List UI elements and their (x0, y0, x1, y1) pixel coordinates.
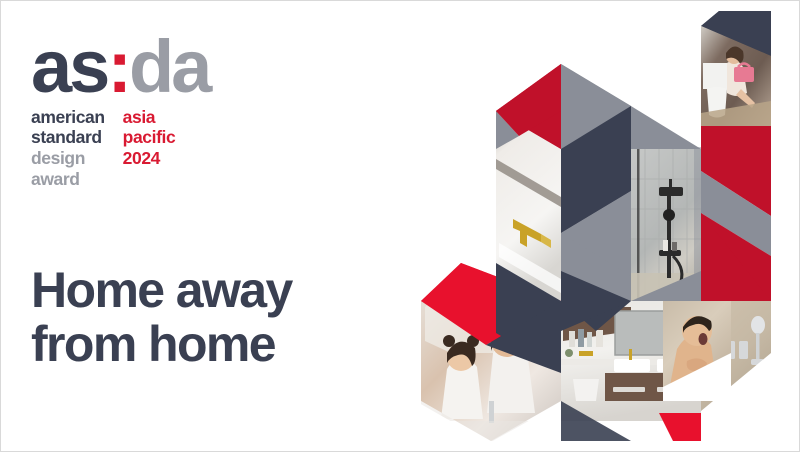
hexagon-photo-collage (401, 1, 800, 451)
wordmark-as: as (31, 25, 107, 108)
tagline-line-2: from home (31, 317, 292, 371)
asda-logo: as:da american standard design award asi… (31, 35, 291, 189)
logo-subtext: american standard design award asia paci… (31, 107, 291, 190)
logo-subtext-left: american standard design award (31, 107, 105, 190)
tagline-line-1: Home away (31, 263, 292, 317)
man-singing-shower-cell (663, 301, 731, 401)
logo-line-award: award (31, 169, 105, 190)
tagline: Home away from home (31, 263, 292, 371)
wordmark-colon: : (107, 25, 129, 108)
wordmark-da: da (129, 25, 209, 108)
left-content-panel: as:da american standard design award asi… (1, 1, 401, 452)
logo-subtext-right: asia pacific 2024 (123, 107, 176, 169)
logo-line-design: design (31, 148, 105, 169)
logo-line-american: american (31, 107, 105, 128)
logo-line-2024: 2024 (123, 148, 176, 169)
collage-right-bands (701, 126, 771, 301)
asda-wordmark: as:da (31, 35, 291, 99)
slide-root: as:da american standard design award asi… (0, 0, 800, 452)
logo-line-asia: asia (123, 107, 176, 128)
logo-line-pacific: pacific (123, 127, 176, 148)
logo-line-standard: standard (31, 127, 105, 148)
